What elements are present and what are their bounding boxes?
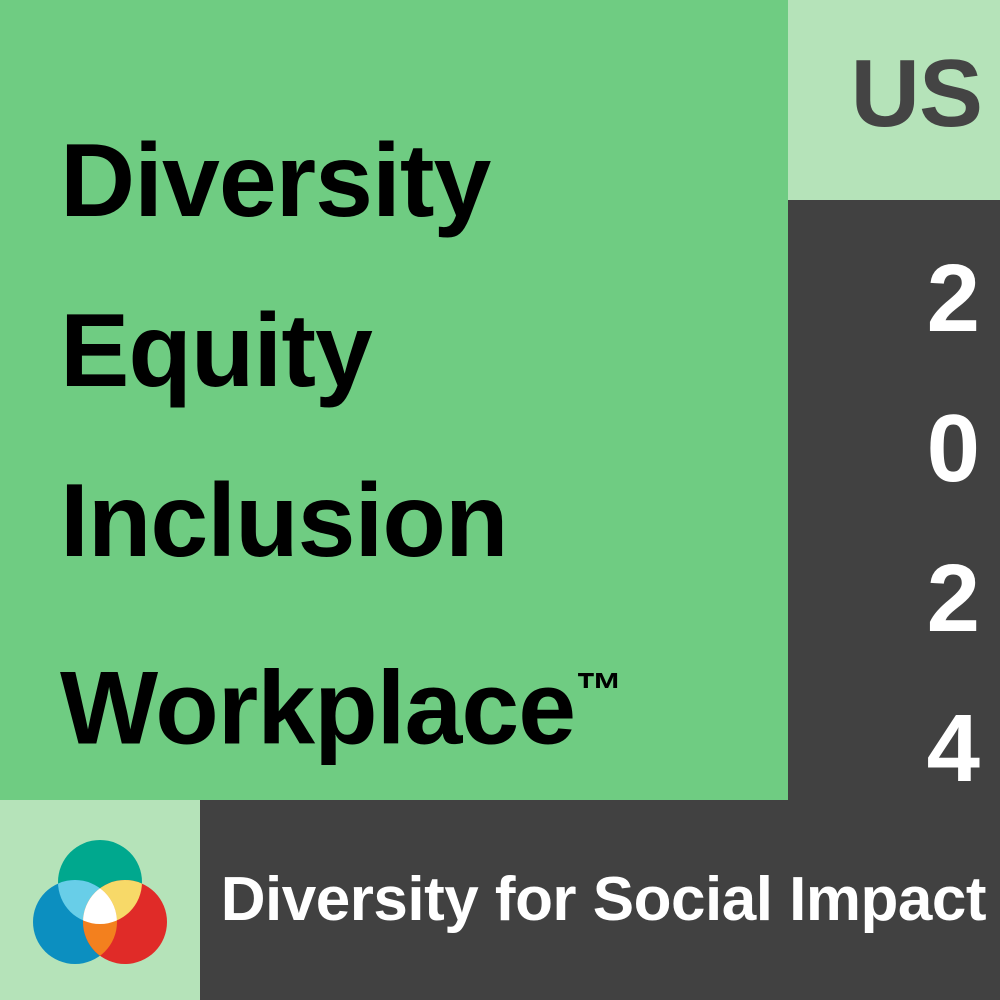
venn-diagram-logo	[30, 830, 170, 970]
headline-line-workplace: Workplace™	[60, 606, 780, 793]
headline-text-diversity: Diversity	[60, 123, 490, 239]
headline-line-equity: Equity	[60, 266, 780, 436]
headline-text-equity: Equity	[60, 293, 372, 409]
headline-panel: Diversity Equity Inclusion Workplace™	[0, 0, 788, 800]
year-digit-3: 2	[927, 524, 980, 674]
award-badge: Diversity Equity Inclusion Workplace™ US…	[0, 0, 1000, 1000]
headline-stack: Diversity Equity Inclusion Workplace™	[60, 96, 780, 793]
organization-name: Diversity for Social Impact	[200, 865, 986, 935]
logo-box	[0, 800, 200, 1000]
footer-bar: Diversity for Social Impact	[200, 800, 1000, 1000]
headline-text-workplace: Workplace	[60, 650, 575, 766]
year-digit-1: 2	[927, 224, 980, 374]
country-box: US	[788, 0, 1000, 200]
country-label: US	[788, 46, 982, 142]
headline-line-inclusion: Inclusion	[60, 436, 780, 606]
year-digit-stack: 2 0 2 4	[788, 224, 980, 824]
headline-text-inclusion: Inclusion	[60, 463, 507, 579]
trademark-symbol: ™	[575, 664, 623, 717]
year-digit-2: 0	[927, 374, 980, 524]
headline-line-diversity: Diversity	[60, 96, 780, 266]
